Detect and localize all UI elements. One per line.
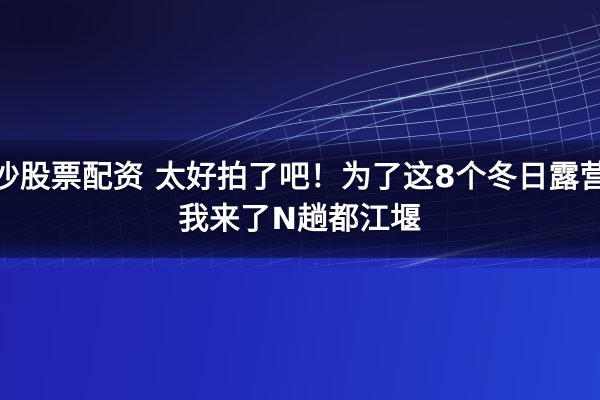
headline-line-2: 我来了N趟都江堰 (178, 199, 421, 241)
headline-block: 长沙股票配资 太好拍了吧！为了这8个冬日露营地 我来了N趟都江堰 (0, 140, 600, 258)
bottom-blue-field (0, 268, 600, 400)
headline-line-1: 长沙股票配资 太好拍了吧！为了这8个冬日露营地 (0, 157, 600, 199)
banner-image: 长沙股票配资 太好拍了吧！为了这8个冬日露营地 我来了N趟都江堰 (0, 0, 600, 400)
